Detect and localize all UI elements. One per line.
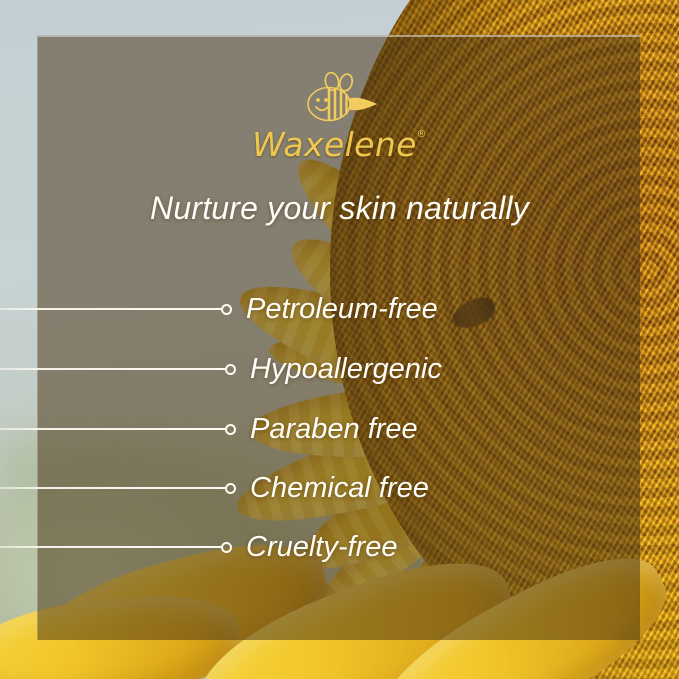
benefit-bullet-icon [221, 542, 232, 553]
benefit-item: Chemical free [0, 471, 679, 505]
benefit-item: Hypoallergenic [0, 352, 679, 386]
benefit-leader-line [0, 487, 226, 489]
benefit-label: Petroleum-free [246, 293, 438, 326]
content-layer: Waxelene® Nurture your skin naturally Pe… [0, 0, 679, 679]
benefit-item: Cruelty-free [0, 530, 679, 564]
benefit-item: Paraben free [0, 412, 679, 446]
benefit-label: Hypoallergenic [250, 353, 442, 386]
benefit-leader-line [0, 428, 226, 430]
benefits-list: Petroleum-freeHypoallergenicParaben free… [0, 0, 679, 679]
benefit-bullet-icon [221, 304, 232, 315]
benefit-bullet-icon [225, 364, 236, 375]
benefit-bullet-icon [225, 424, 236, 435]
benefit-label: Chemical free [250, 472, 429, 505]
benefit-label: Cruelty-free [246, 531, 398, 564]
benefit-label: Paraben free [250, 413, 418, 446]
benefit-item: Petroleum-free [0, 292, 679, 326]
benefit-bullet-icon [225, 483, 236, 494]
benefit-leader-line [0, 308, 222, 310]
benefit-leader-line [0, 546, 222, 548]
benefit-leader-line [0, 368, 226, 370]
